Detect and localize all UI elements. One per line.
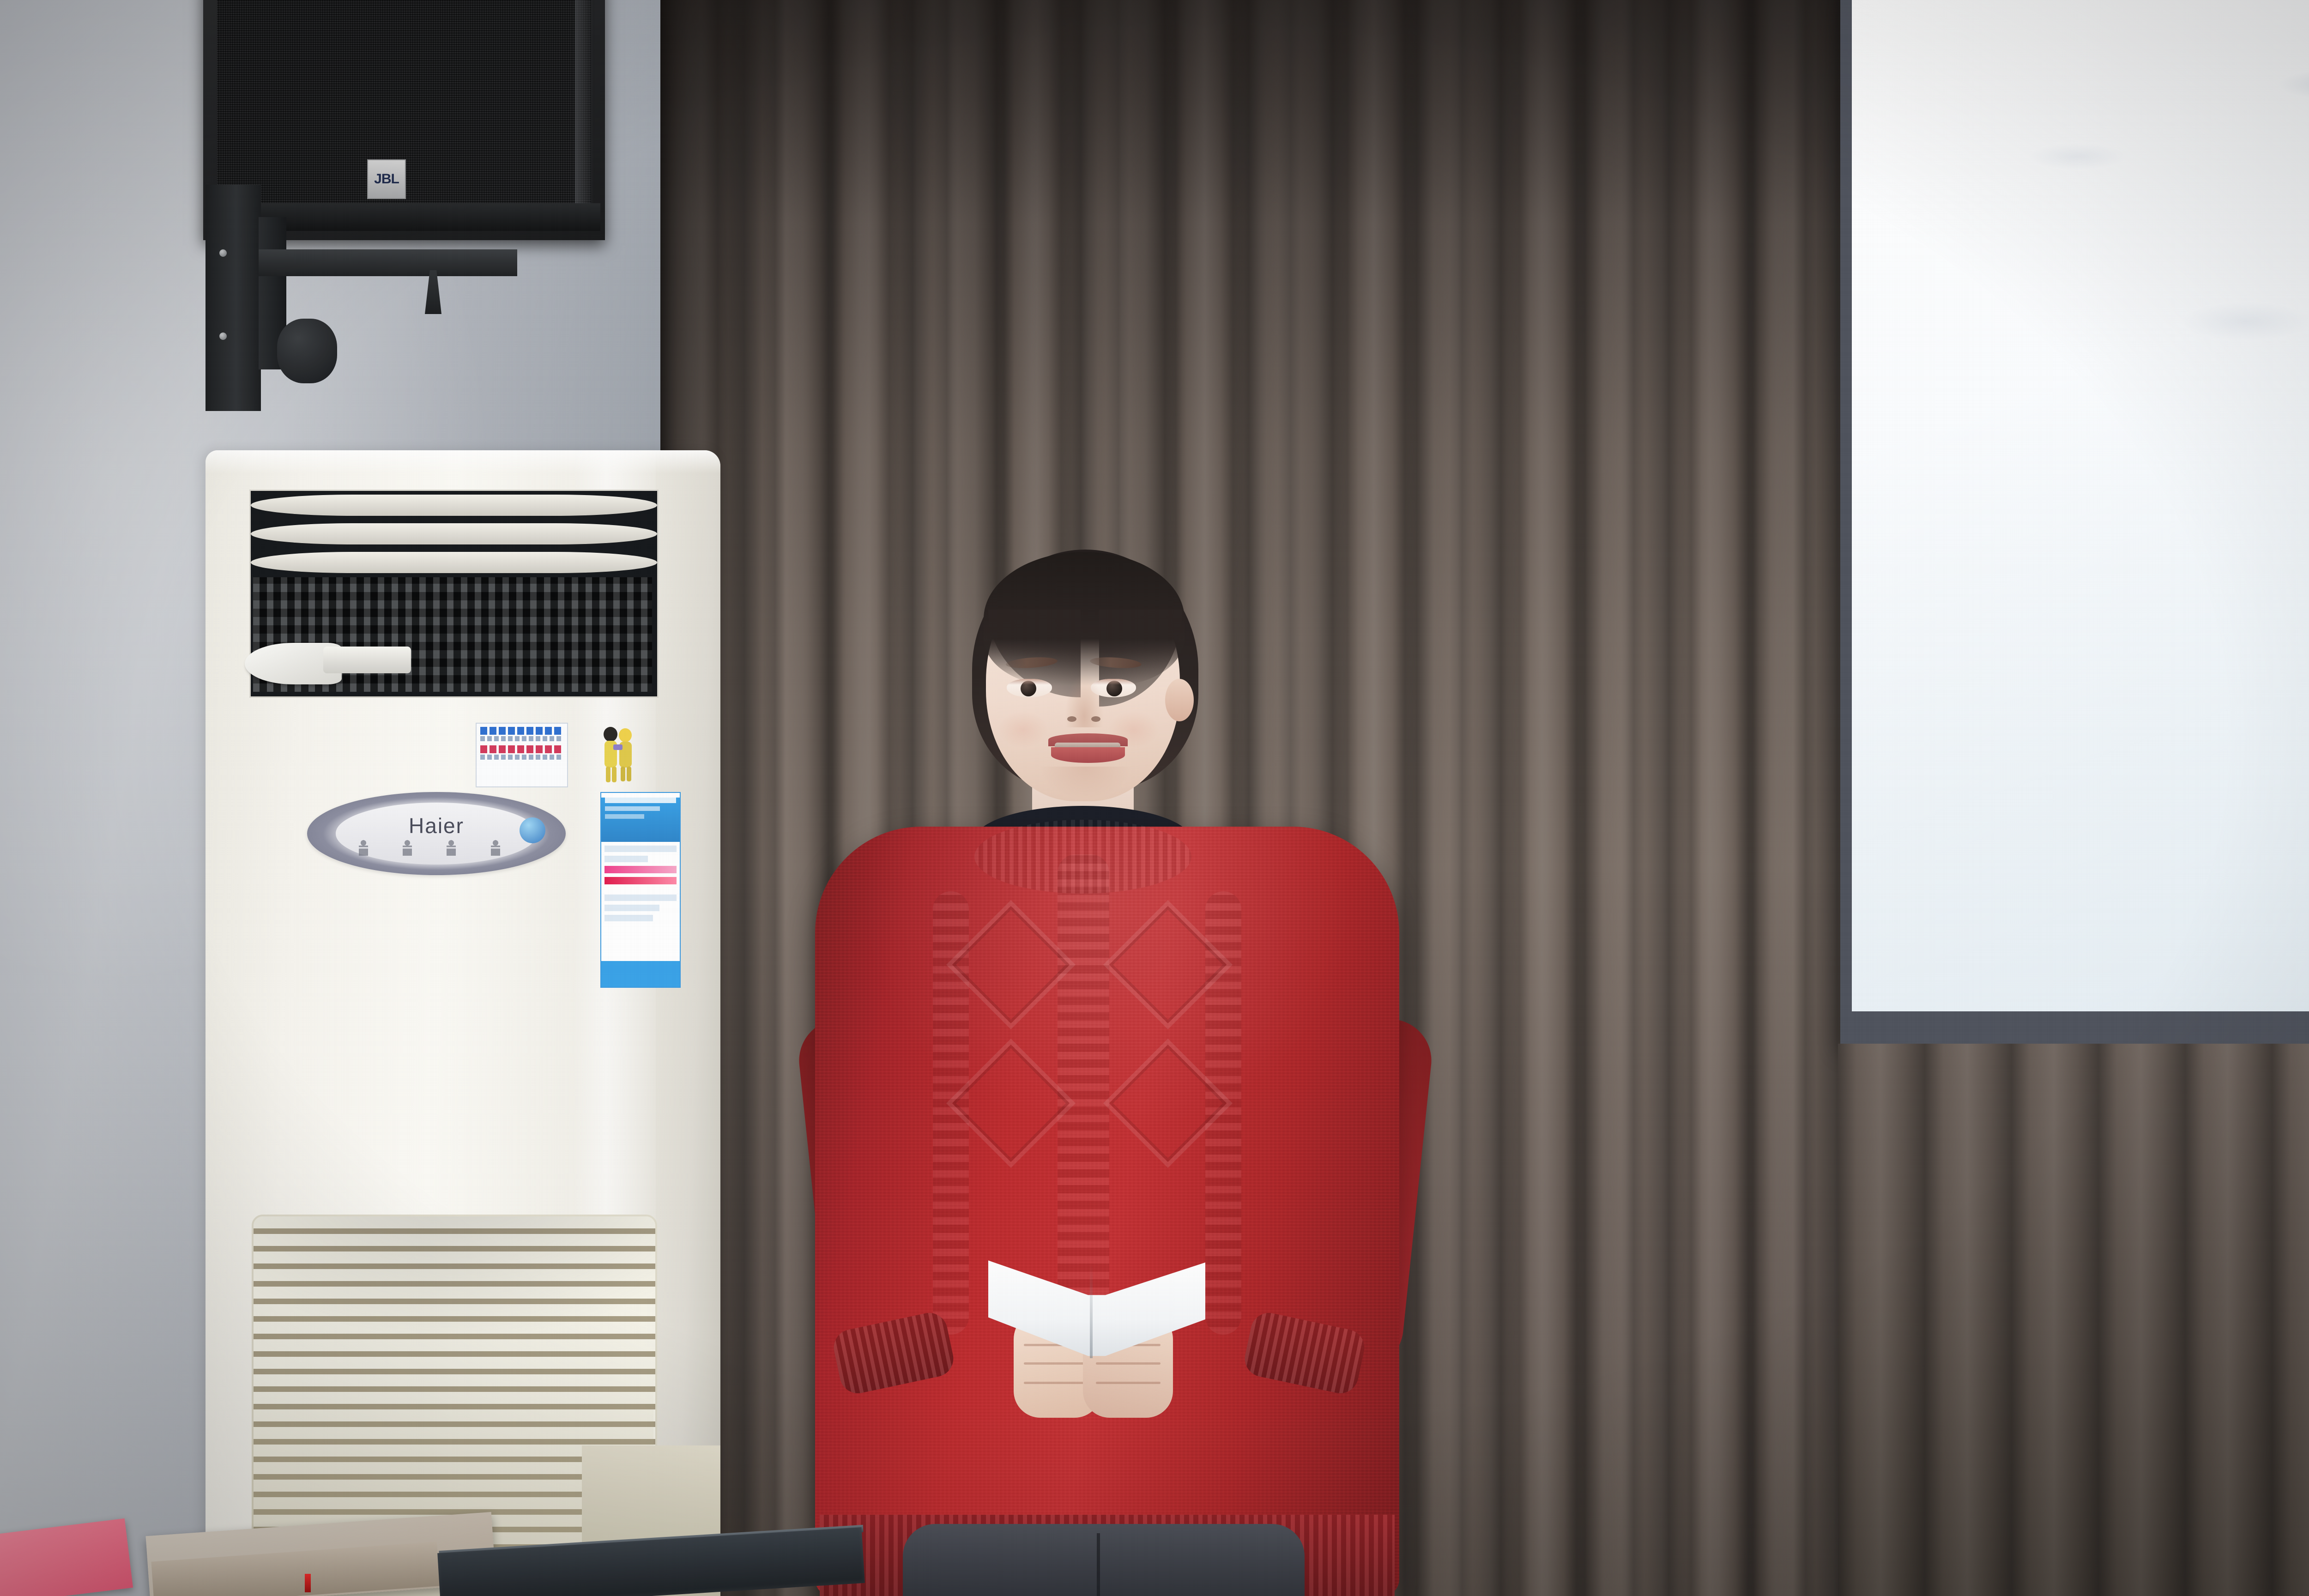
- power-indicator-icon: [520, 817, 545, 843]
- energy-label-bar-red: [604, 877, 677, 884]
- sticker-subline-red: [480, 755, 563, 760]
- bracket-screw-bottom: [219, 332, 227, 340]
- jbl-logo-badge: JBL: [367, 159, 406, 199]
- control-icon-4[interactable]: [491, 840, 500, 856]
- control-icon-2[interactable]: [403, 840, 412, 856]
- energy-label-row-2: [604, 856, 648, 862]
- sticker-line-red: [480, 745, 563, 753]
- energy-label-header: [601, 798, 680, 842]
- sticker-subline-blue: [480, 736, 563, 741]
- energy-label-sub2: [605, 814, 644, 819]
- haier-logo-text: Haier: [409, 813, 464, 838]
- nose: [1064, 672, 1104, 727]
- jbl-logo-text: JBL: [374, 171, 399, 187]
- energy-label-row-5: [604, 915, 653, 921]
- curtain-right-section: [1838, 1044, 2309, 1596]
- warning-sticker: [476, 723, 568, 787]
- projection-screen-residual-image: [1852, 0, 2309, 1011]
- energy-efficiency-label: [600, 792, 681, 988]
- red-marker[interactable]: [305, 1574, 311, 1592]
- eye-left: [1007, 679, 1052, 697]
- stuffed-paper-tail: [323, 647, 411, 673]
- speaker-mount-arm: [259, 249, 517, 276]
- vent-louvre-1: [251, 495, 657, 516]
- speaker-side-edge: [575, 0, 594, 212]
- cartoon-sticker: [597, 726, 639, 785]
- energy-label-sub1: [605, 806, 660, 811]
- speaker-pivot-knob: [277, 319, 337, 383]
- trouser-seam: [1097, 1533, 1100, 1596]
- vent-louvre-2: [251, 523, 657, 544]
- energy-label-row-1: [604, 846, 677, 852]
- lower-lip: [1051, 747, 1125, 763]
- vent-louvre-3: [251, 552, 657, 573]
- energy-label-title: [605, 798, 676, 803]
- mouth: [1048, 733, 1128, 764]
- knuckle-r-2: [1096, 1362, 1161, 1365]
- knuckle-l-2: [1024, 1362, 1088, 1365]
- sweater-neck-ribbing: [974, 820, 1191, 894]
- chin-shadow: [1039, 767, 1131, 799]
- cheek-left: [997, 711, 1048, 748]
- nostril-right: [1091, 716, 1100, 722]
- energy-label-row-4: [604, 905, 659, 911]
- knuckle-l-3: [1024, 1382, 1088, 1384]
- ear: [1165, 679, 1194, 721]
- trousers: [903, 1524, 1305, 1596]
- eyelid-left: [1007, 679, 1052, 685]
- sticker-line-blue: [480, 727, 563, 735]
- paper-fold-crease: [1090, 1263, 1093, 1358]
- energy-label-bar-pink: [604, 866, 677, 873]
- bracket-screw-top: [219, 249, 227, 257]
- energy-label-footer: [601, 961, 680, 987]
- knuckle-r-3: [1096, 1382, 1161, 1384]
- photograph-scene: JBL: [0, 0, 2309, 1596]
- nostril-left: [1067, 716, 1076, 722]
- energy-label-row-3: [604, 895, 677, 901]
- control-icon-1[interactable]: [359, 840, 368, 856]
- speaker-wall-bracket: [206, 185, 261, 411]
- control-icon-3[interactable]: [447, 840, 456, 856]
